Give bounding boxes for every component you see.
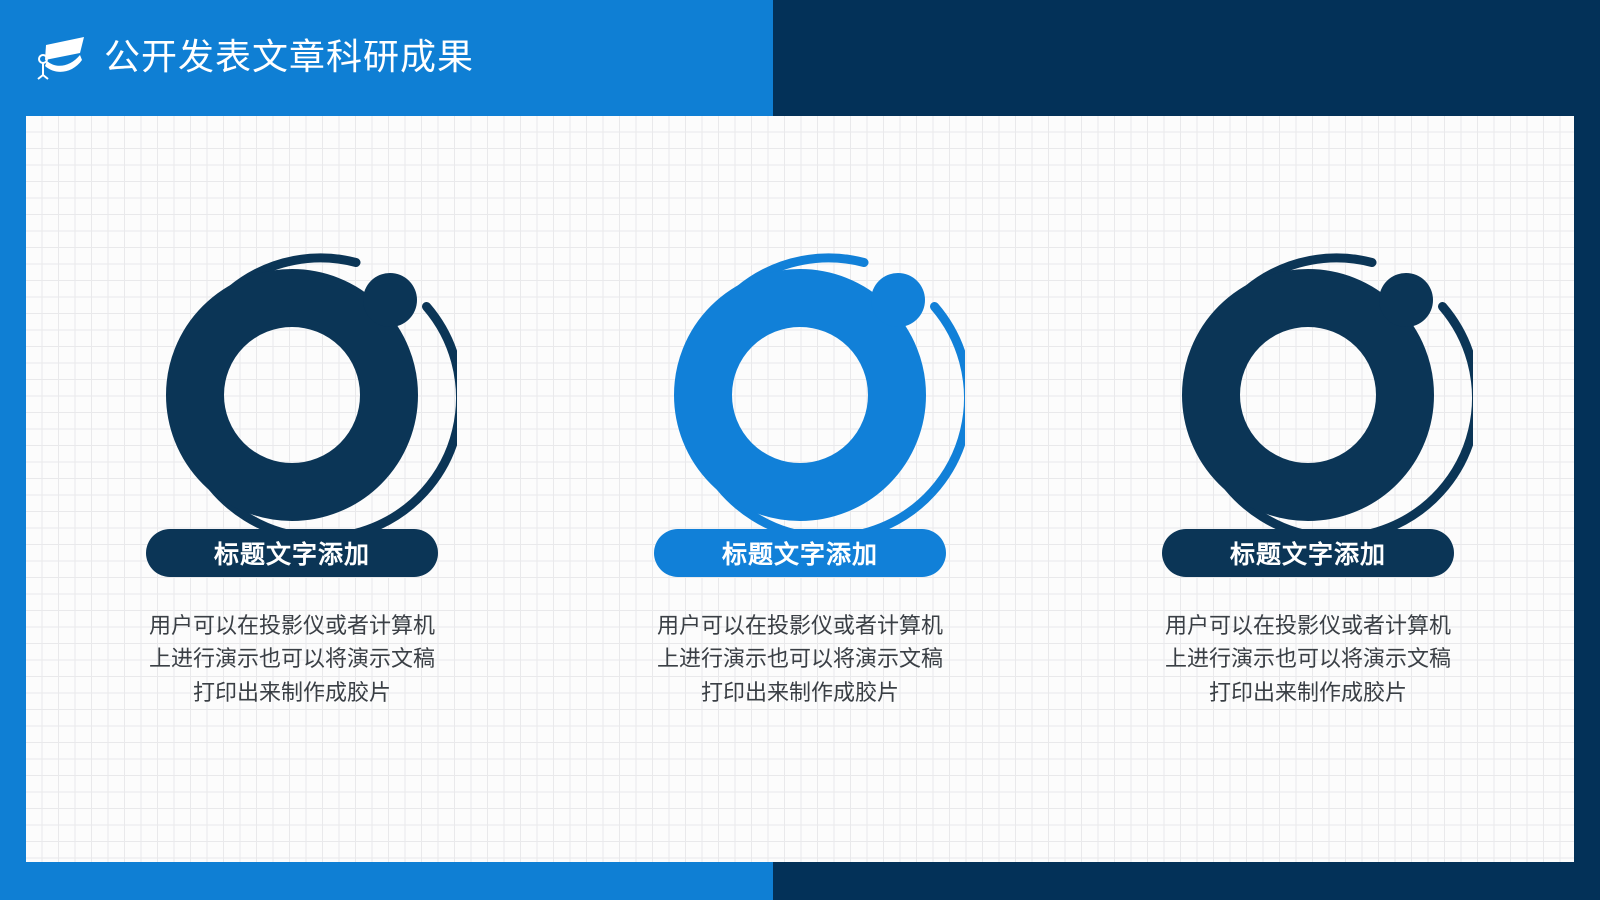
page-title: 公开发表文章科研成果 bbox=[104, 40, 474, 76]
card-item[interactable]: 标题文字添加 用户可以在投影仪或者计算机 上进行演示也可以将演示文稿 打印出来制… bbox=[600, 116, 1000, 862]
card-title-text: 标题文字添加 bbox=[214, 535, 370, 571]
card-description: 用户可以在投影仪或者计算机 上进行演示也可以将演示文稿 打印出来制作成胶片 bbox=[1143, 610, 1473, 710]
orbit-ring-icon bbox=[127, 249, 457, 541]
card-description: 用户可以在投影仪或者计算机 上进行演示也可以将演示文稿 打印出来制作成胶片 bbox=[635, 610, 965, 710]
orbit-ring-icon bbox=[1143, 249, 1473, 541]
content-panel: 标题文字添加 用户可以在投影仪或者计算机 上进行演示也可以将演示文稿 打印出来制… bbox=[26, 116, 1574, 862]
slide: 公开发表文章科研成果 标题文字添加 用户可以在投影仪或者计算机 上进行演示也可以… bbox=[0, 0, 1600, 900]
card-group: 标题文字添加 用户可以在投影仪或者计算机 上进行演示也可以将演示文稿 打印出来制… bbox=[26, 116, 1574, 862]
card-title-pill[interactable]: 标题文字添加 bbox=[654, 529, 946, 577]
card-title-text: 标题文字添加 bbox=[722, 535, 878, 571]
card-item[interactable]: 标题文字添加 用户可以在投影仪或者计算机 上进行演示也可以将演示文稿 打印出来制… bbox=[92, 116, 492, 862]
card-item[interactable]: 标题文字添加 用户可以在投影仪或者计算机 上进行演示也可以将演示文稿 打印出来制… bbox=[1108, 116, 1508, 862]
orbit-ring-icon bbox=[635, 249, 965, 541]
slide-header: 公开发表文章科研成果 bbox=[0, 0, 773, 116]
graduation-cap-icon bbox=[32, 33, 92, 83]
card-title-pill[interactable]: 标题文字添加 bbox=[1162, 529, 1454, 577]
card-title-pill[interactable]: 标题文字添加 bbox=[146, 529, 438, 577]
card-description: 用户可以在投影仪或者计算机 上进行演示也可以将演示文稿 打印出来制作成胶片 bbox=[127, 610, 457, 710]
card-title-text: 标题文字添加 bbox=[1230, 535, 1386, 571]
